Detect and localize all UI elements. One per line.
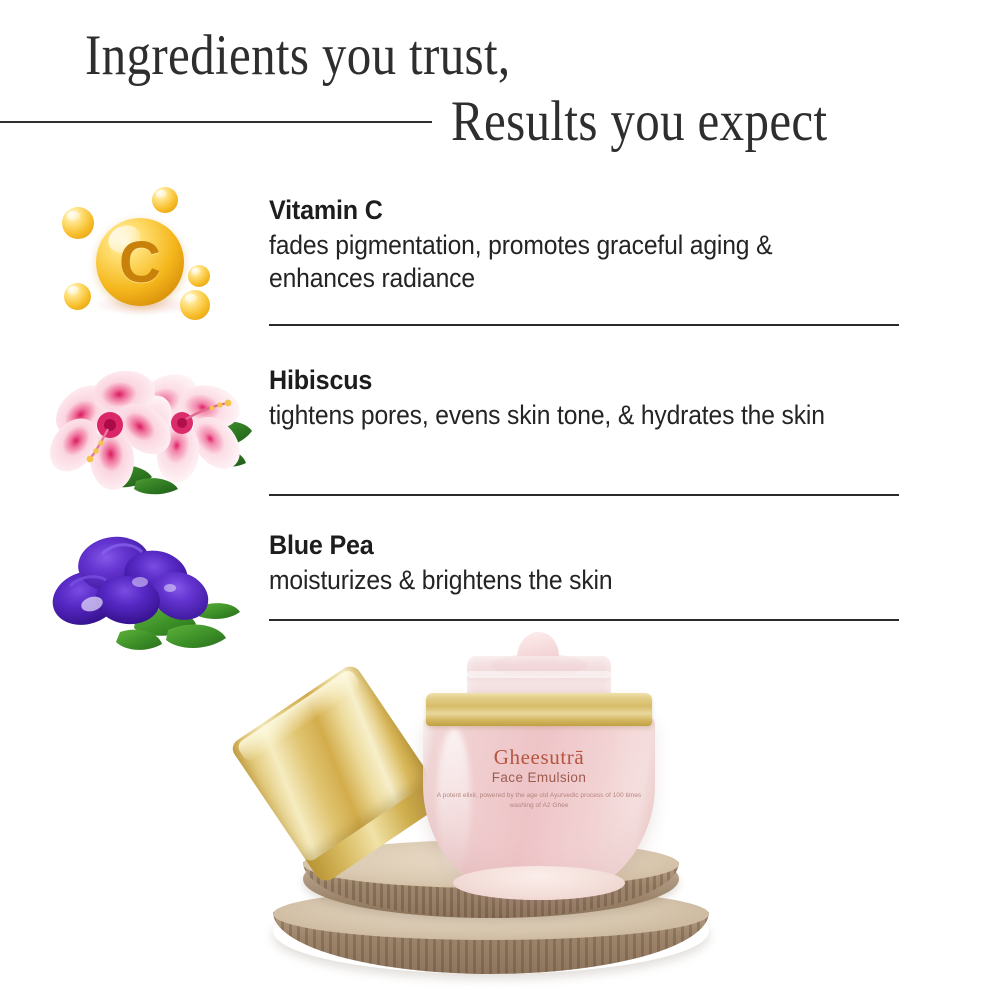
jar-gold-band: [426, 693, 652, 726]
ingredient-description: fades pigmentation, promotes graceful ag…: [269, 229, 857, 296]
ingredient-divider-rule: [269, 494, 899, 496]
headline-line-2: Results you expect: [451, 93, 828, 150]
cream-jar: [423, 644, 655, 900]
jar-body-highlight: [437, 728, 471, 878]
infographic-page: Ingredients you trust, Results you expec…: [0, 0, 1000, 1000]
ingredient-title: Hibiscus: [269, 365, 857, 397]
hibiscus-flower-icon: [40, 355, 260, 505]
ingredient-description: tightens pores, evens skin tone, & hydra…: [269, 399, 857, 432]
ingredient-text-block: Hibiscus tightens pores, evens skin tone…: [269, 365, 901, 432]
vitamin-c-golden-sphere-icon: C: [40, 185, 260, 335]
product-photo: Gheesutrā Face Emulsion A potent elixir,…: [255, 636, 745, 986]
jar-neck-ring: [467, 671, 611, 678]
blue-pea-flower-icon: [40, 520, 260, 670]
vitamin-c-letter: C: [96, 218, 184, 306]
ingredient-title: Vitamin C: [269, 195, 857, 227]
jar-base-sheen: [453, 866, 625, 900]
headline-line-1: Ingredients you trust,: [85, 27, 511, 84]
ingredient-description: moisturizes & brightens the skin: [269, 564, 857, 597]
blue-pea-svg: [40, 520, 260, 670]
ingredient-title: Blue Pea: [269, 530, 857, 562]
ingredient-text-block: Blue Pea moisturizes & brightens the ski…: [269, 530, 901, 597]
ingredient-text-block: Vitamin C fades pigmentation, promotes g…: [269, 195, 901, 296]
ingredient-divider-rule: [269, 324, 899, 326]
ingredient-divider-rule: [269, 619, 899, 621]
hibiscus-svg: [40, 355, 260, 505]
headline-divider-rule: [0, 121, 432, 123]
